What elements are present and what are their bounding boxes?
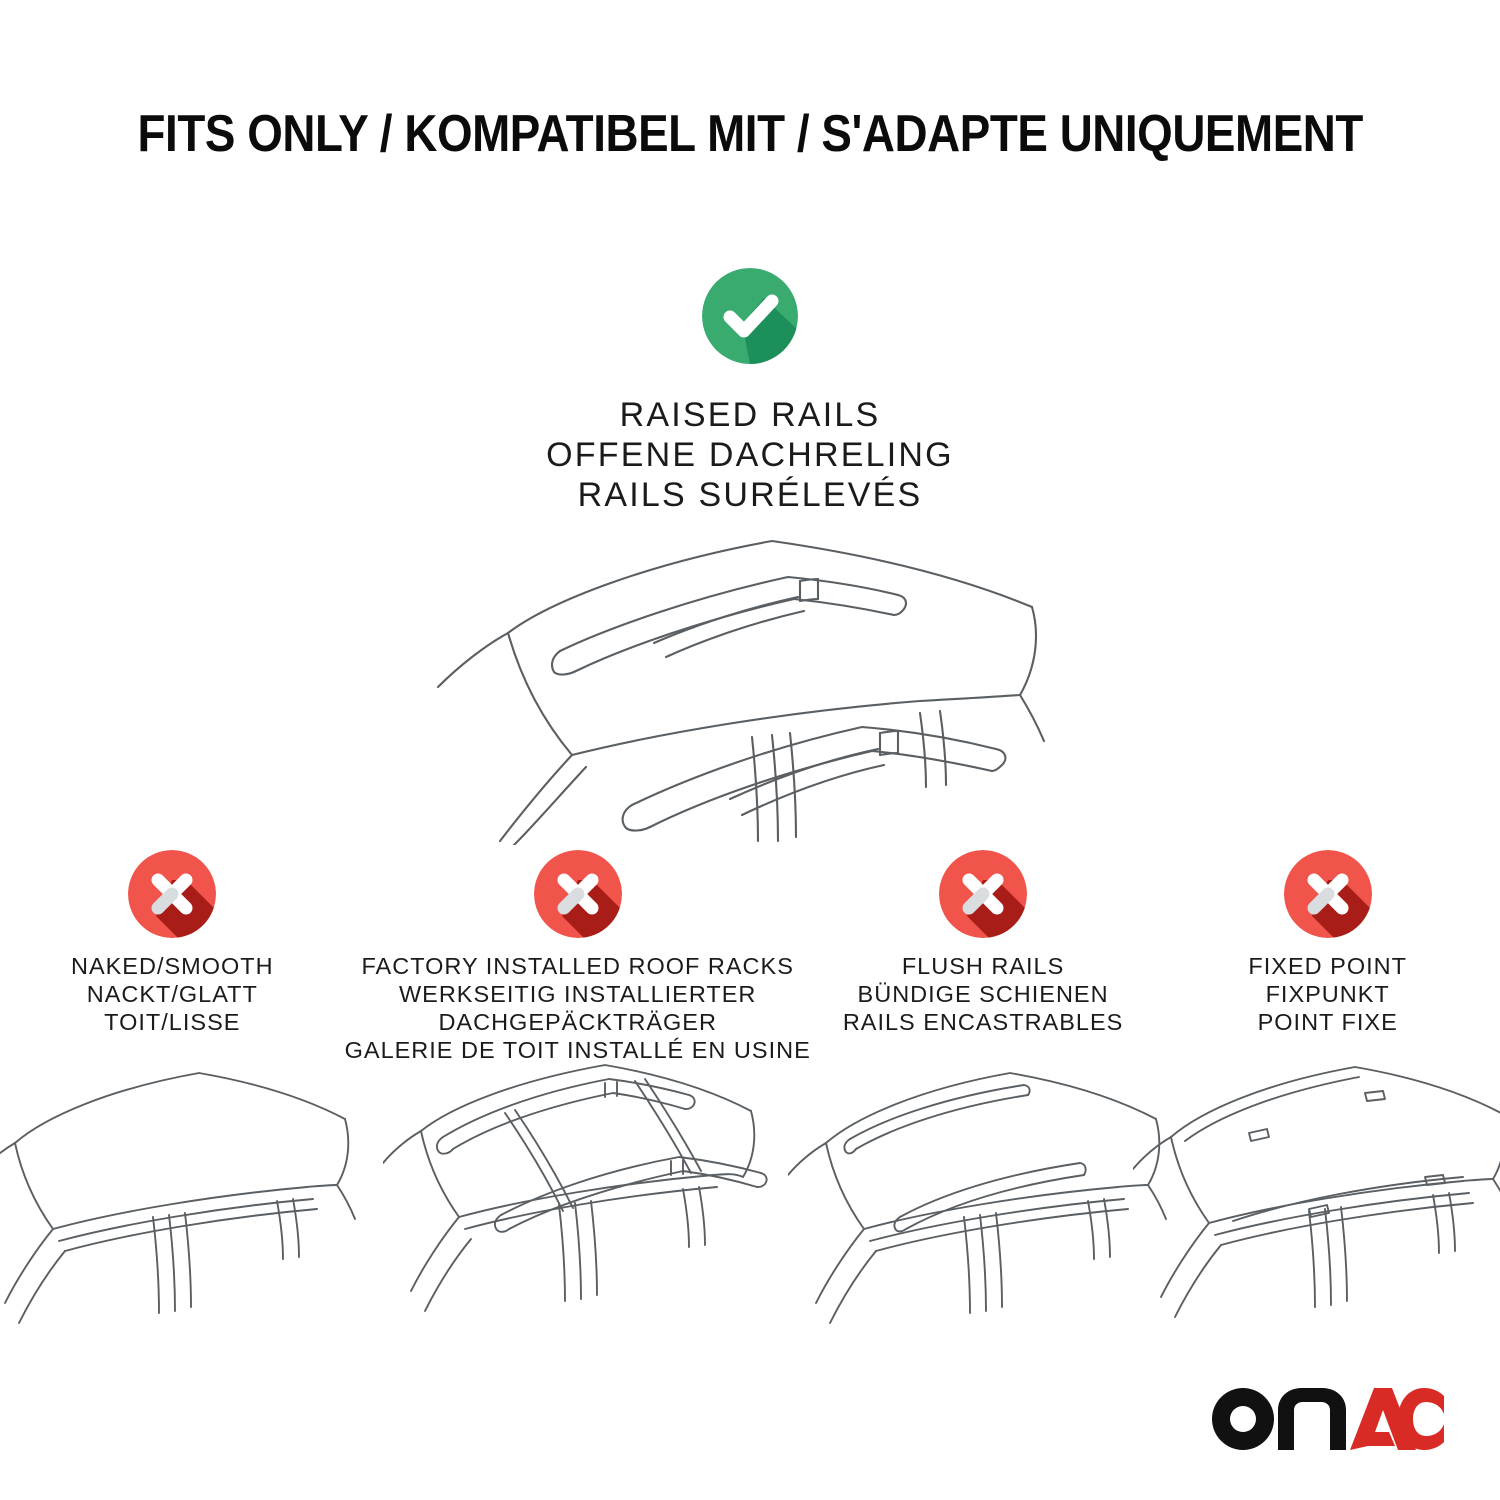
car-roof-naked-smooth-illustration — [0, 1055, 367, 1325]
incompatible-section: NAKED/SMOOTH NACKT/GLATT TOIT/LISSE — [0, 850, 1500, 1330]
compatible-label-de: OFFENE DACHRELING — [0, 435, 1500, 475]
omac-logo — [1212, 1388, 1444, 1450]
incompatible-item-factory-racks: FACTORY INSTALLED ROOF RACKS WERKSEITIG … — [345, 850, 811, 1330]
incompatible-labels: FACTORY INSTALLED ROOF RACKS WERKSEITIG … — [345, 952, 811, 1064]
compatible-section: RAISED RAILS OFFENE DACHRELING RAILS SUR… — [0, 268, 1500, 515]
car-roof-flush-rails-illustration — [788, 1055, 1178, 1325]
label-line-1: NAKED/SMOOTH — [71, 952, 274, 980]
incompatible-labels: FLUSH RAILS BÜNDIGE SCHIENEN RAILS ENCAS… — [843, 952, 1124, 1036]
fitment-infographic: FITS ONLY / KOMPATIBEL MIT / S'ADAPTE UN… — [0, 0, 1500, 1500]
cross-circle-icon — [128, 850, 216, 938]
cross-circle-icon — [534, 850, 622, 938]
incompatible-item-naked-smooth: NAKED/SMOOTH NACKT/GLATT TOIT/LISSE — [0, 850, 345, 1330]
label-line-1: FACTORY INSTALLED ROOF RACKS — [345, 952, 811, 980]
label-line-2: WERKSEITIG INSTALLIERTER — [345, 980, 811, 1008]
page-title-text: FITS ONLY / KOMPATIBEL MIT / S'ADAPTE UN… — [137, 103, 1362, 165]
cross-circle-icon — [1284, 850, 1372, 938]
incompatible-item-flush-rails: FLUSH RAILS BÜNDIGE SCHIENEN RAILS ENCAS… — [811, 850, 1156, 1330]
incompatible-labels: NAKED/SMOOTH NACKT/GLATT TOIT/LISSE — [71, 952, 274, 1036]
label-line-3: TOIT/LISSE — [71, 1008, 274, 1036]
label-line-3: POINT FIXE — [1248, 1008, 1407, 1036]
check-circle-icon — [702, 268, 798, 364]
car-roof-factory-installed-racks-illustration — [383, 1055, 773, 1325]
label-line-2: FIXPUNKT — [1248, 980, 1407, 1008]
car-roof-fixed-point-illustration — [1133, 1055, 1500, 1325]
label-line-3: RAILS ENCASTRABLES — [843, 1008, 1124, 1036]
label-line-2: NACKT/GLATT — [71, 980, 274, 1008]
car-roof-with-raised-rails-illustration — [400, 515, 1100, 845]
compatible-label-fr: RAILS SURÉLEVÉS — [0, 475, 1500, 515]
label-line-1: FLUSH RAILS — [843, 952, 1124, 980]
compatible-labels: RAISED RAILS OFFENE DACHRELING RAILS SUR… — [0, 395, 1500, 515]
label-line-3: DACHGEPÄCKTRÄGER — [345, 1008, 811, 1036]
incompatible-labels: FIXED POINT FIXPUNKT POINT FIXE — [1248, 952, 1407, 1036]
cross-circle-icon — [939, 850, 1027, 938]
page-title: FITS ONLY / KOMPATIBEL MIT / S'ADAPTE UN… — [0, 103, 1500, 165]
label-line-2: BÜNDIGE SCHIENEN — [843, 980, 1124, 1008]
label-line-1: FIXED POINT — [1248, 952, 1407, 980]
incompatible-item-fixed-point: FIXED POINT FIXPUNKT POINT FIXE — [1155, 850, 1500, 1330]
compatible-label-en: RAISED RAILS — [0, 395, 1500, 435]
